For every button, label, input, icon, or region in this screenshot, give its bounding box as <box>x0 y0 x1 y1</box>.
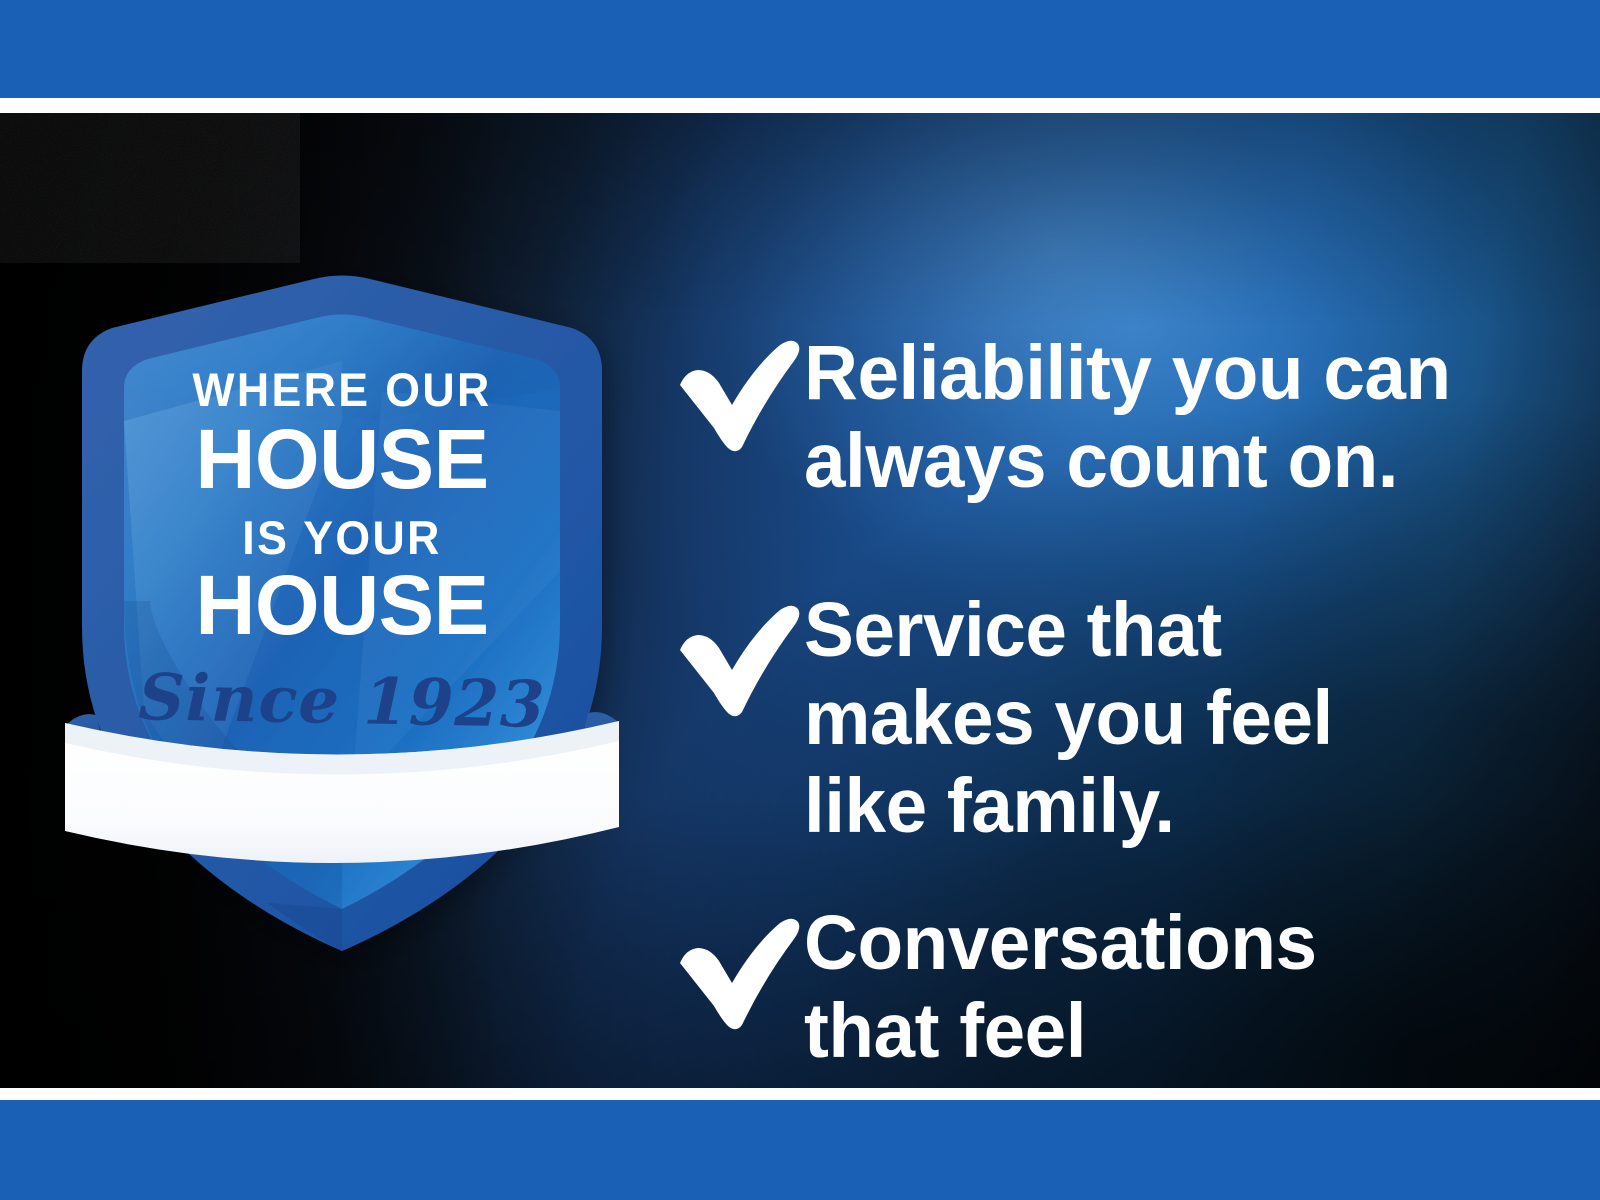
benefit-text: Conversations that feel like home. <box>804 899 1481 1088</box>
background-noise-texture-fine <box>0 113 300 263</box>
check-icon <box>672 335 804 453</box>
benefits-list: Reliability you can always count on. Ser… <box>672 226 1502 1088</box>
check-icon <box>672 600 804 718</box>
promo-graphic: WHERE OUR HOUSE IS YOUR HOUSE Since 1923… <box>0 0 1600 1200</box>
benefit-text: Service that makes you feel like family. <box>804 586 1481 850</box>
check-icon <box>672 913 804 1031</box>
main-stage: WHERE OUR HOUSE IS YOUR HOUSE Since 1923… <box>0 113 1600 1088</box>
benefit-text: Reliability you can always count on. <box>804 329 1481 505</box>
top-brand-bar <box>0 0 1600 98</box>
shield-emblem: WHERE OUR HOUSE IS YOUR HOUSE Since 1923 <box>52 271 632 921</box>
benefit-item: Reliability you can always count on. <box>672 329 1502 505</box>
bottom-white-divider <box>0 1088 1600 1100</box>
top-white-divider <box>0 98 1600 113</box>
benefit-item: Conversations that feel like home. <box>672 899 1502 1088</box>
benefit-item: Service that makes you feel like family. <box>672 586 1502 850</box>
bottom-brand-bar <box>0 1100 1600 1200</box>
